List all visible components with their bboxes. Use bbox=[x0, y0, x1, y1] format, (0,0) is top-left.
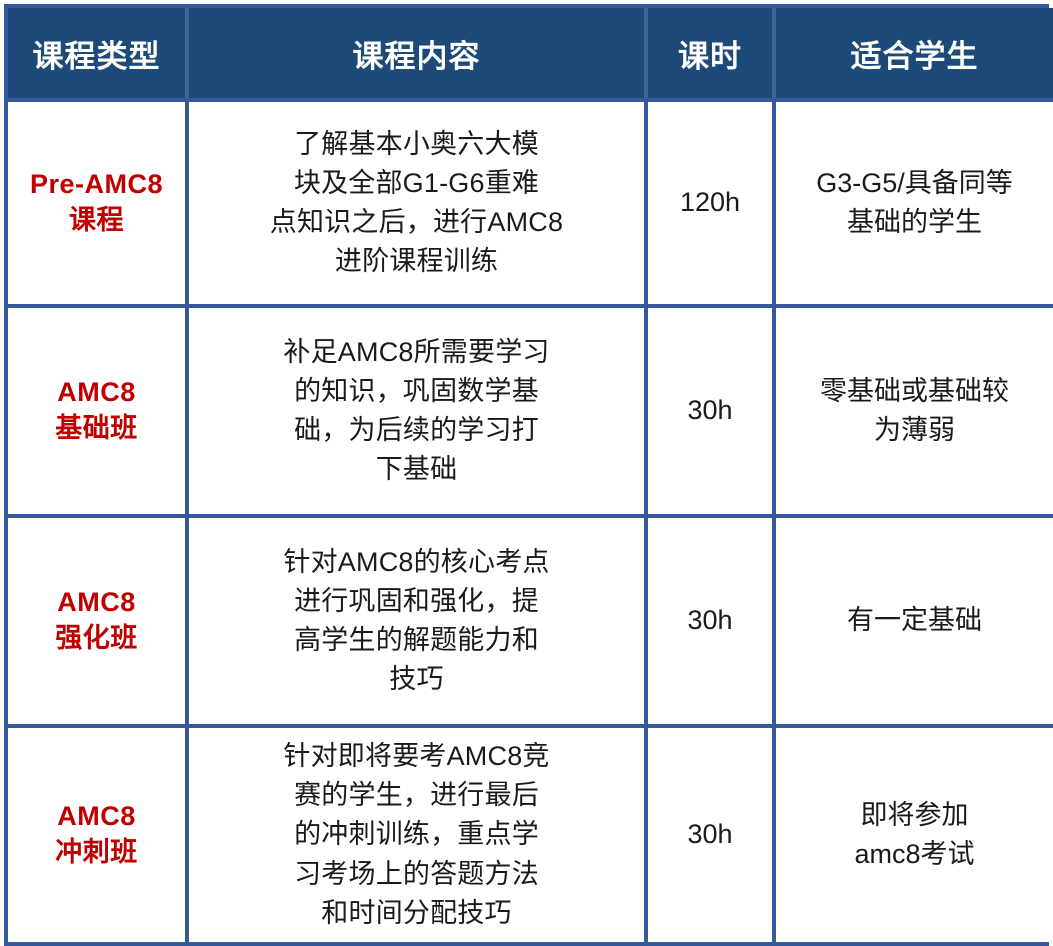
course-type-label: Pre-AMC8 课程 bbox=[18, 167, 175, 238]
cell-course-content: 补足AMC8所需要学习 的知识，巩固数学基 础，为后续的学习打 下基础 bbox=[187, 306, 646, 516]
table-body: Pre-AMC8 课程 了解基本小奥六大模 块及全部G1-G6重难 点知识之后，… bbox=[8, 100, 1053, 942]
cell-course-type: AMC8 冲刺班 bbox=[8, 726, 187, 942]
course-type-label: AMC8 强化班 bbox=[18, 585, 175, 656]
table-header: 课程类型 课程内容 课时 适合学生 bbox=[8, 8, 1053, 100]
suitable-students-text: 有一定基础 bbox=[786, 601, 1043, 640]
table-header-row: 课程类型 课程内容 课时 适合学生 bbox=[8, 8, 1053, 100]
suitable-students-text: 即将参加 amc8考试 bbox=[786, 796, 1043, 874]
table-row: AMC8 冲刺班 针对即将要考AMC8竞 赛的学生，进行最后 的冲刺训练，重点学… bbox=[8, 726, 1053, 942]
cell-suitable-students: 零基础或基础较 为薄弱 bbox=[774, 306, 1053, 516]
column-header-suitable-students: 适合学生 bbox=[774, 8, 1053, 100]
cell-course-type: Pre-AMC8 课程 bbox=[8, 100, 187, 306]
table-row: Pre-AMC8 课程 了解基本小奥六大模 块及全部G1-G6重难 点知识之后，… bbox=[8, 100, 1053, 306]
cell-course-type: AMC8 基础班 bbox=[8, 306, 187, 516]
column-header-course-hours: 课时 bbox=[646, 8, 774, 100]
cell-course-content: 针对AMC8的核心考点 进行巩固和强化，提 高学生的解题能力和 技巧 bbox=[187, 516, 646, 726]
course-content-text: 补足AMC8所需要学习 的知识，巩固数学基 础，为后续的学习打 下基础 bbox=[199, 333, 634, 490]
column-header-course-content: 课程内容 bbox=[187, 8, 646, 100]
suitable-students-text: 零基础或基础较 为薄弱 bbox=[786, 372, 1043, 450]
course-hours-value: 30h bbox=[658, 393, 762, 428]
table-frame: 课程类型 课程内容 课时 适合学生 Pre-AMC8 课程 了解基本小奥六大模 … bbox=[4, 4, 1049, 946]
table-row: AMC8 基础班 补足AMC8所需要学习 的知识，巩固数学基 础，为后续的学习打… bbox=[8, 306, 1053, 516]
course-content-text: 针对AMC8的核心考点 进行巩固和强化，提 高学生的解题能力和 技巧 bbox=[199, 543, 634, 700]
cell-course-hours: 30h bbox=[646, 306, 774, 516]
cell-suitable-students: 有一定基础 bbox=[774, 516, 1053, 726]
course-hours-value: 30h bbox=[658, 603, 762, 638]
cell-course-content: 了解基本小奥六大模 块及全部G1-G6重难 点知识之后，进行AMC8 进阶课程训… bbox=[187, 100, 646, 306]
column-header-course-type: 课程类型 bbox=[8, 8, 187, 100]
suitable-students-text: G3-G5/具备同等 基础的学生 bbox=[786, 164, 1043, 242]
course-table-container: 课程类型 课程内容 课时 适合学生 Pre-AMC8 课程 了解基本小奥六大模 … bbox=[0, 0, 1053, 946]
table-row: AMC8 强化班 针对AMC8的核心考点 进行巩固和强化，提 高学生的解题能力和… bbox=[8, 516, 1053, 726]
course-comparison-table: 课程类型 课程内容 课时 适合学生 Pre-AMC8 课程 了解基本小奥六大模 … bbox=[8, 8, 1053, 942]
cell-course-type: AMC8 强化班 bbox=[8, 516, 187, 726]
course-type-label: AMC8 冲刺班 bbox=[18, 799, 175, 870]
cell-suitable-students: 即将参加 amc8考试 bbox=[774, 726, 1053, 942]
course-content-text: 了解基本小奥六大模 块及全部G1-G6重难 点知识之后，进行AMC8 进阶课程训… bbox=[199, 125, 634, 282]
course-hours-value: 30h bbox=[658, 817, 762, 852]
course-hours-value: 120h bbox=[658, 185, 762, 220]
cell-course-hours: 30h bbox=[646, 516, 774, 726]
cell-suitable-students: G3-G5/具备同等 基础的学生 bbox=[774, 100, 1053, 306]
cell-course-hours: 120h bbox=[646, 100, 774, 306]
cell-course-content: 针对即将要考AMC8竞 赛的学生，进行最后 的冲刺训练，重点学 习考场上的答题方… bbox=[187, 726, 646, 942]
course-content-text: 针对即将要考AMC8竞 赛的学生，进行最后 的冲刺训练，重点学 习考场上的答题方… bbox=[199, 737, 634, 933]
cell-course-hours: 30h bbox=[646, 726, 774, 942]
course-type-label: AMC8 基础班 bbox=[18, 375, 175, 446]
